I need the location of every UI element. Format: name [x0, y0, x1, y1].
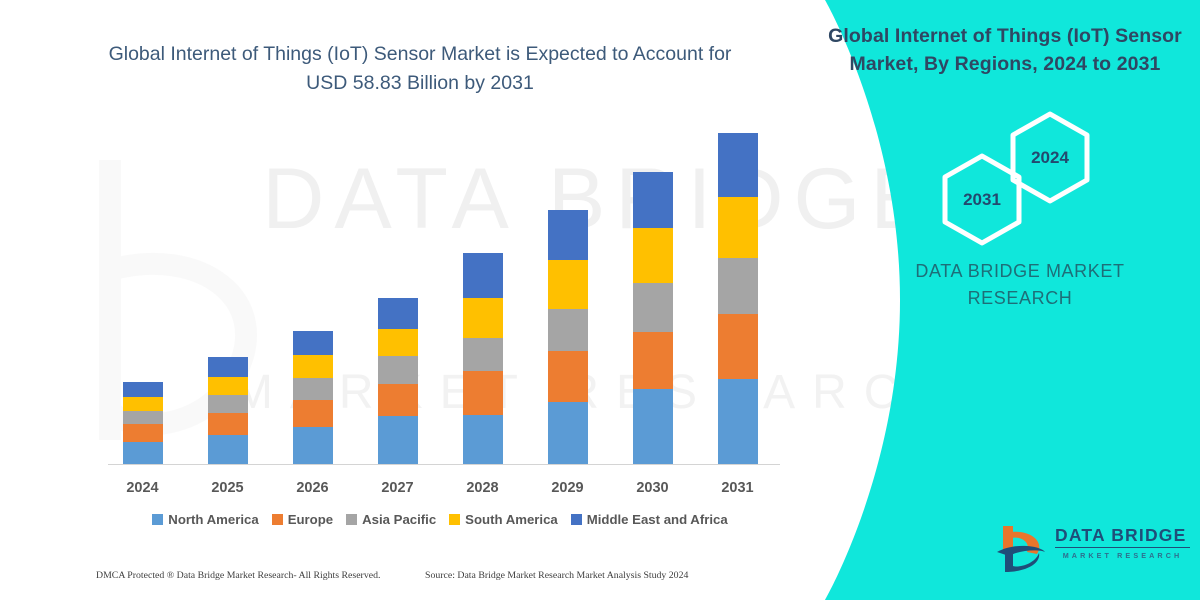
stacked-bar[interactable] — [718, 133, 758, 464]
bar-segment — [548, 260, 588, 309]
legend-swatch-icon — [346, 514, 357, 525]
bar-column-2027[interactable] — [365, 120, 431, 464]
bar-segment — [548, 351, 588, 402]
legend-item-asia-pacific[interactable]: Asia Pacific — [346, 512, 436, 527]
legend-item-europe[interactable]: Europe — [272, 512, 333, 527]
bar-column-2030[interactable] — [620, 120, 686, 464]
bar-segment — [293, 331, 333, 355]
x-axis-label-2031: 2031 — [705, 480, 771, 496]
chart-title: Global Internet of Things (IoT) Sensor M… — [100, 40, 740, 99]
bar-segment — [378, 356, 418, 384]
logo-tagline: MARKET RESEARCH — [1055, 551, 1190, 560]
bar-segment — [718, 314, 758, 379]
bars-container — [100, 120, 780, 464]
chart-legend: North AmericaEuropeAsia PacificSouth Ame… — [100, 512, 780, 527]
x-axis-line — [108, 464, 780, 465]
bar-segment — [718, 258, 758, 313]
stacked-bar[interactable] — [123, 382, 163, 464]
bar-segment — [208, 435, 248, 464]
right-panel-title: Global Internet of Things (IoT) Sensor M… — [820, 22, 1190, 79]
bar-segment — [123, 382, 163, 397]
bar-segment — [463, 415, 503, 464]
legend-label: South America — [465, 512, 558, 527]
bar-segment — [123, 442, 163, 464]
bar-segment — [718, 379, 758, 464]
company-logo: DATA BRIDGE MARKET RESEARCH — [995, 520, 1190, 576]
footer-dmca-text: DMCA Protected ® Data Bridge Market Rese… — [96, 570, 380, 581]
bar-segment — [378, 416, 418, 464]
stacked-bar[interactable] — [208, 357, 248, 464]
bar-segment — [633, 172, 673, 228]
bar-segment — [463, 298, 503, 338]
legend-swatch-icon — [272, 514, 283, 525]
legend-label: Middle East and Africa — [587, 512, 728, 527]
bar-segment — [123, 397, 163, 411]
bar-segment — [123, 424, 163, 441]
stacked-bar[interactable] — [378, 298, 418, 464]
x-axis-label-2027: 2027 — [365, 480, 431, 496]
bar-segment — [718, 197, 758, 258]
bar-segment — [378, 329, 418, 357]
x-axis-label-2029: 2029 — [535, 480, 601, 496]
bar-column-2028[interactable] — [450, 120, 516, 464]
legend-item-north-america[interactable]: North America — [152, 512, 258, 527]
legend-item-south-america[interactable]: South America — [449, 512, 558, 527]
bar-segment — [463, 338, 503, 371]
bar-segment — [123, 411, 163, 425]
bar-segment — [633, 283, 673, 332]
legend-swatch-icon — [449, 514, 460, 525]
x-axis-labels: 20242025202620272028202920302031 — [100, 475, 780, 501]
data-bridge-logo-icon — [995, 522, 1051, 574]
bar-column-2029[interactable] — [535, 120, 601, 464]
bar-segment — [293, 400, 333, 428]
bar-segment — [633, 389, 673, 464]
bar-segment — [208, 377, 248, 395]
bar-segment — [208, 395, 248, 413]
bar-column-2024[interactable] — [110, 120, 176, 464]
chart-plot-area — [100, 120, 780, 465]
stacked-bar[interactable] — [633, 172, 673, 464]
logo-company-name: DATA BRIDGE — [1055, 526, 1190, 548]
bar-segment — [463, 371, 503, 416]
legend-swatch-icon — [571, 514, 582, 525]
stacked-bar[interactable] — [463, 253, 503, 464]
bar-column-2026[interactable] — [280, 120, 346, 464]
infographic-page: DATA BRIDGE MARKET RESEARCH Global Inter… — [0, 0, 1200, 600]
legend-label: Europe — [288, 512, 333, 527]
bar-segment — [548, 309, 588, 351]
stacked-bar[interactable] — [293, 331, 333, 464]
x-axis-label-2028: 2028 — [450, 480, 516, 496]
bar-segment — [378, 298, 418, 328]
legend-label: North America — [168, 512, 258, 527]
legend-item-middle-east-and-africa[interactable]: Middle East and Africa — [571, 512, 728, 527]
x-axis-label-2030: 2030 — [620, 480, 686, 496]
bar-segment — [293, 378, 333, 400]
bar-segment — [548, 210, 588, 260]
hexagon-badge-2024: 2024 — [1008, 110, 1092, 205]
bar-segment — [548, 402, 588, 464]
legend-label: Asia Pacific — [362, 512, 436, 527]
x-axis-label-2026: 2026 — [280, 480, 346, 496]
x-axis-label-2024: 2024 — [110, 480, 176, 496]
bar-segment — [293, 427, 333, 464]
x-axis-label-2025: 2025 — [195, 480, 261, 496]
bar-segment — [633, 332, 673, 390]
bar-column-2031[interactable] — [705, 120, 771, 464]
bar-segment — [208, 357, 248, 377]
bar-segment — [718, 133, 758, 198]
footer-source-text: Source: Data Bridge Market Research Mark… — [425, 570, 688, 581]
brand-subtitle: DATA BRIDGE MARKET RESEARCH — [880, 258, 1160, 312]
bar-segment — [633, 228, 673, 283]
bar-column-2025[interactable] — [195, 120, 261, 464]
hexagon-2024-label: 2024 — [1008, 110, 1092, 205]
bar-segment — [293, 355, 333, 377]
bar-segment — [208, 413, 248, 435]
bar-segment — [378, 384, 418, 416]
bar-segment — [463, 253, 503, 298]
stacked-bar[interactable] — [548, 210, 588, 464]
logo-text-block: DATA BRIDGE MARKET RESEARCH — [1055, 526, 1190, 560]
legend-swatch-icon — [152, 514, 163, 525]
